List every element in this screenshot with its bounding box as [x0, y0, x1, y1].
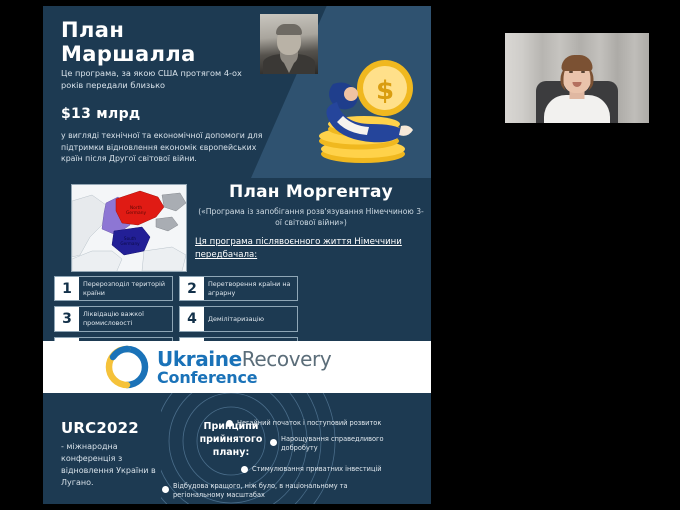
- measure-text: Перетворення країни на аграрну: [204, 277, 297, 300]
- morgenthau-title: План Моргентау: [193, 182, 429, 202]
- principle-dot: [226, 420, 233, 427]
- germany-partition-map: North Germany South Germany: [71, 184, 187, 272]
- participant-shirt: [544, 95, 610, 123]
- urc-logo-line1: UkraineRecovery: [157, 349, 331, 369]
- measure-card[interactable]: 2 Перетворення країни на аграрну: [179, 276, 298, 301]
- morgenthau-subtitle: («Програма із запобігання розв'язування …: [195, 206, 427, 228]
- measure-card[interactable]: 1 Перерозподіл територій країни: [54, 276, 173, 301]
- participant-eye-left: [569, 71, 573, 73]
- participant-video-tile[interactable]: [505, 33, 649, 123]
- urc-logo-word-ukraine: Ukraine: [157, 347, 242, 371]
- principle-text: Нарощування справедливого добробуту: [281, 435, 396, 453]
- urc-logo-text: UkraineRecovery Conference: [157, 349, 331, 386]
- principle-text: Відбудова кращого, ніж було, в національ…: [173, 482, 373, 500]
- urc2022-section: Принципи прийнятого плану: Негайний поча…: [43, 393, 431, 504]
- urc2022-description: - міжнародна конференція з відновлення У…: [61, 441, 166, 489]
- morgenthau-plan-section: North Germany South Germany План Моргент…: [43, 178, 431, 341]
- marshall-plan-title: План Маршалла: [61, 18, 196, 67]
- urc-logo-word-conference: Conference: [157, 370, 331, 386]
- marshall-title-line2: Маршалла: [61, 42, 196, 66]
- marshall-amount: $13 млрд: [61, 106, 141, 122]
- urc-logo-word-recovery: Recovery: [242, 347, 332, 371]
- screen-share-view: План Маршалла Це програма, за якою США п…: [0, 0, 680, 510]
- principle-dot: [241, 466, 248, 473]
- marshall-paragraph-2: у вигляді технічної та економічної допом…: [61, 130, 266, 165]
- morgenthau-lead-text: Ця програма післявоєнного життя Німеччин…: [195, 236, 427, 263]
- principle-dot: [270, 439, 277, 446]
- urc-logo-band: UkraineRecovery Conference: [43, 341, 431, 393]
- measure-card[interactable]: 3 Ліквідацію важкої промисловості: [54, 306, 173, 331]
- measure-text: Ліквідацію важкої промисловості: [79, 307, 172, 330]
- shared-slide[interactable]: План Маршалла Це програма, за якою США п…: [43, 6, 431, 504]
- measure-number: 3: [55, 307, 79, 330]
- measure-text: Демілітаризацію: [204, 307, 297, 330]
- measure-card[interactable]: 4 Демілітаризацію: [179, 306, 298, 331]
- principle-text: Негайний початок і поступовий розвиток: [237, 419, 431, 428]
- marshall-plan-section: План Маршалла Це програма, за якою США п…: [43, 6, 431, 178]
- principle-dot: [162, 486, 169, 493]
- participant-eye-right: [581, 71, 585, 73]
- urc2022-title: URC2022: [61, 419, 139, 437]
- marshall-title-line1: План: [61, 18, 196, 42]
- participant-hair-top: [562, 55, 593, 71]
- marshall-paragraph-1: Це програма, за якою США протягом 4-ох р…: [61, 68, 251, 92]
- measure-number: 1: [55, 277, 79, 300]
- principle-text: Стимулювання приватних інвестицій: [252, 465, 431, 474]
- measure-text: Перерозподіл територій країни: [79, 277, 172, 300]
- svg-text:Germany: Germany: [126, 210, 147, 216]
- measure-number: 2: [180, 277, 204, 300]
- money-illustration: $: [307, 54, 425, 166]
- svg-text:$: $: [376, 76, 394, 106]
- measure-number: 4: [180, 307, 204, 330]
- portrait-hair: [276, 24, 302, 35]
- urc-ring-icon: [105, 345, 149, 389]
- svg-text:Germany: Germany: [120, 241, 140, 246]
